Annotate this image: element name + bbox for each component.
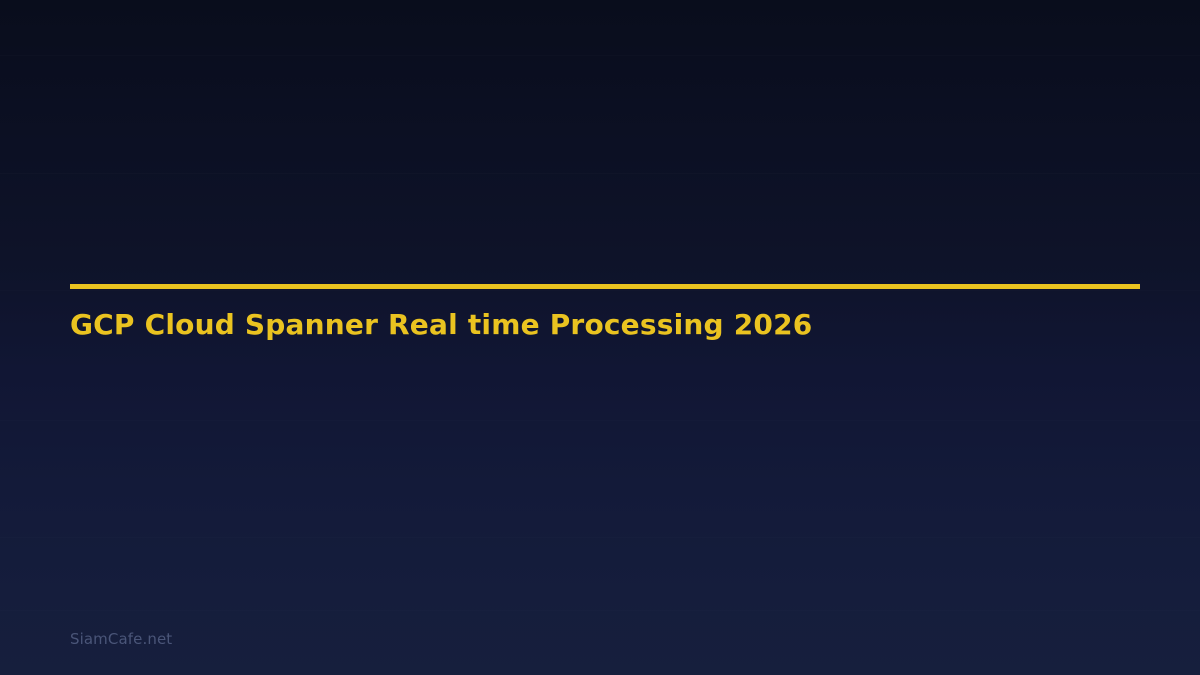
- gradient-band: [0, 173, 1200, 174]
- footer-brand: SiamCafe.net: [70, 630, 172, 648]
- gradient-band: [0, 537, 1200, 538]
- gradient-band: [0, 420, 1200, 421]
- title-block: GCP Cloud Spanner Real time Processing 2…: [70, 284, 1140, 289]
- gradient-band: [0, 290, 1200, 291]
- page-title: GCP Cloud Spanner Real time Processing 2…: [70, 311, 812, 339]
- accent-rule: [70, 284, 1140, 289]
- gradient-band: [0, 55, 1200, 56]
- gradient-band: [0, 610, 1200, 611]
- presentation-slide: GCP Cloud Spanner Real time Processing 2…: [0, 0, 1200, 675]
